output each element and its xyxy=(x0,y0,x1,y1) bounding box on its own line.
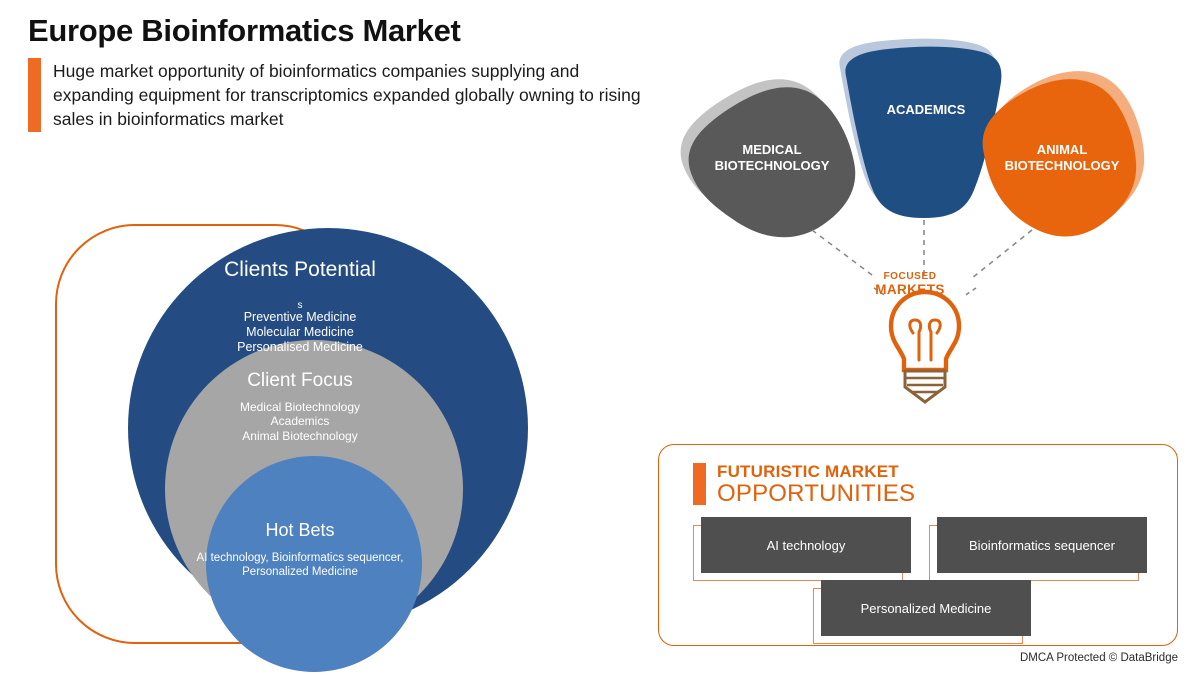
client-focus-label: Client Focus xyxy=(0,370,600,392)
blobs-svg xyxy=(660,30,1180,410)
header: Europe Bioinformatics Market Huge market… xyxy=(28,14,688,132)
blob-label-animal: ANIMAL BIOTECHNOLOGY xyxy=(982,142,1142,174)
focused-markets-diagram: MEDICAL BIOTECHNOLOGY ACADEMICS ANIMAL B… xyxy=(660,30,1180,410)
blob-label-medical: MEDICAL BIOTECHNOLOGY xyxy=(692,142,852,174)
connector-animal xyxy=(972,230,1032,278)
opportunity-box[interactable]: Bioinformatics sequencer xyxy=(937,517,1147,573)
footer-attribution: DMCA Protected © DataBridge xyxy=(1020,652,1178,664)
page-title: Europe Bioinformatics Market xyxy=(28,14,688,48)
opportunity-box[interactable]: Personalized Medicine xyxy=(821,580,1031,636)
list-item: AI technology, Bioinformatics sequencer, xyxy=(0,552,600,566)
list-item: Personalized Medicine xyxy=(0,566,600,580)
hot-bets-list: AI technology, Bioinformatics sequencer,… xyxy=(0,552,600,580)
opportunities-title-line1: FUTURISTIC MARKET xyxy=(717,463,915,481)
subtitle-block: Huge market opportunity of bioinformatic… xyxy=(28,58,688,131)
connector-medical xyxy=(812,230,876,278)
opportunities-title-line2: OPPORTUNITIES xyxy=(717,481,915,506)
lightbulb-icon xyxy=(874,288,976,402)
list-item: Animal Biotechnology xyxy=(0,429,600,443)
blob-label-line1: ANIMAL xyxy=(982,142,1142,158)
opportunity-box[interactable]: AI technology xyxy=(701,517,911,573)
list-item: Academics xyxy=(0,414,600,428)
subtitle-accent-bar xyxy=(28,58,41,131)
opportunities-accent-bar xyxy=(693,463,706,505)
client-focus-list: Medical Biotechnology Academics Animal B… xyxy=(0,400,600,443)
opportunities-title-block: FUTURISTIC MARKET OPPORTUNITIES xyxy=(717,463,915,506)
list-item: Medical Biotechnology xyxy=(0,400,600,414)
focused-markets-label: FOCUSED MARKETS xyxy=(855,272,965,297)
blob-label-line1: ACADEMICS xyxy=(848,102,1004,118)
opportunities-header: FUTURISTIC MARKET OPPORTUNITIES xyxy=(693,463,915,506)
infographic-canvas: Europe Bioinformatics Market Huge market… xyxy=(0,0,1200,675)
list-item: Molecular Medicine xyxy=(0,325,600,340)
blob-label-academics: ACADEMICS xyxy=(848,102,1004,118)
list-item: Preventive Medicine xyxy=(0,310,600,325)
blob-label-line1: MEDICAL xyxy=(692,142,852,158)
blob-label-line2: BIOTECHNOLOGY xyxy=(692,158,852,174)
list-item: Personalised Medicine xyxy=(0,340,600,355)
concentric-circles-diagram: Clients Potential s Preventive Medicine … xyxy=(0,200,600,670)
clients-potential-list: Preventive Medicine Molecular Medicine P… xyxy=(0,310,600,354)
futuristic-opportunities-card: FUTURISTIC MARKET OPPORTUNITIES AI techn… xyxy=(658,444,1178,646)
hot-bets-label: Hot Bets xyxy=(0,520,600,541)
academics-blob[interactable] xyxy=(845,47,1001,218)
bulb-label-line2: MARKETS xyxy=(855,283,965,297)
clients-potential-label: Clients Potential xyxy=(0,258,600,282)
blob-label-line2: BIOTECHNOLOGY xyxy=(982,158,1142,174)
subtitle-text: Huge market opportunity of bioinformatic… xyxy=(53,58,653,131)
bulb-label-line1: FOCUSED xyxy=(855,272,965,283)
